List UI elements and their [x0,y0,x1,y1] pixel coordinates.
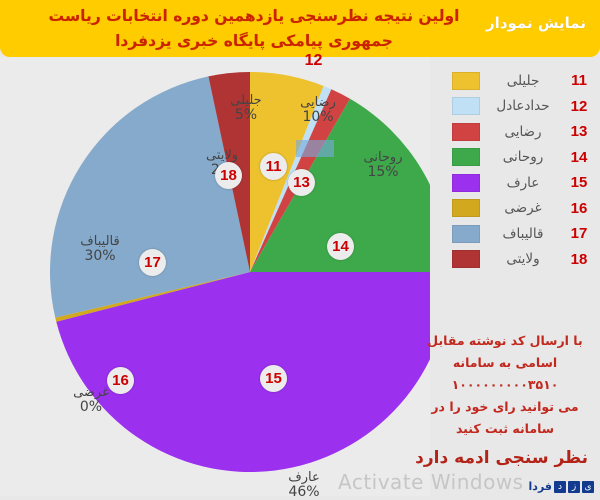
legend-color-swatch [452,148,480,166]
pie-badge-11: 11 [260,153,287,180]
legend-number: 18 [566,251,592,268]
legend-row-16[interactable]: 16غرضی [452,196,592,222]
legend-row-12[interactable]: 12حدادعادل [452,94,592,120]
legend-label: جلیلی [480,73,566,89]
pie-badge-18: 18 [215,162,242,189]
legend-label: روحانی [480,149,566,165]
legend-color-swatch [452,225,480,243]
legend-row-11[interactable]: 11جلیلی [452,68,592,94]
legend-row-13[interactable]: 13رضایی [452,119,592,145]
promo-line-4: می توانید رای خود را در [420,396,590,418]
logo-letter-2: ز [568,481,580,493]
pie-badge-12: 12 [300,47,327,74]
header-title: نمایش نمودار [486,14,586,32]
promo-tagline: نظر سنجی ادمه دارد [418,448,588,468]
headline-line-1: اولین نتیجه نظرسنجی یازدهمین دوره انتخاب… [30,4,478,29]
pie-badge-13: 13 [288,169,315,196]
legend-row-17[interactable]: 17قالیباف [452,221,592,247]
legend-number: 14 [566,149,592,166]
logo-letter-1: د [554,481,566,493]
page-header: نمایش نمودار اولین نتیجه نظرسنجی یازدهمی… [0,0,600,57]
pie-badge-15: 15 [260,365,287,392]
promo-shortcode: ۱۰۰۰۰۰۰۰۰۰۳۵۱۰ [420,374,590,396]
legend-number: 16 [566,200,592,217]
pie-chart: جلیلی5%حدادعادلرضایی10%روحانی15%عارف46%غ… [0,57,430,496]
pie-slices [50,72,430,472]
pie-badge-14: 14 [327,233,354,260]
chart-legend: 11جلیلی12حدادعادل13رضایی14روحانی15عارف16… [452,68,592,272]
logo-letter-3: ی [582,481,594,493]
legend-number: 17 [566,225,592,242]
promo-text: با ارسال کد نوشته مقابل اسامی به سامانه … [420,330,590,440]
pie-badge-16: 16 [107,367,134,394]
headline: اولین نتیجه نظرسنجی یازدهمین دوره انتخاب… [30,4,478,54]
legend-number: 12 [566,98,592,115]
legend-number: 13 [566,123,592,140]
legend-number: 15 [566,174,592,191]
legend-label: رضایی [480,124,566,140]
legend-color-swatch [452,199,480,217]
pie-badge-17: 17 [139,249,166,276]
legend-color-swatch [452,72,480,90]
promo-line-1: با ارسال کد نوشته مقابل [420,330,590,352]
promo-line-5: سامانه ثبت کنید [420,418,590,440]
legend-label: غرضی [480,200,566,216]
pie-chart-svg [0,57,430,496]
legend-label: قالیباف [480,226,566,242]
legend-color-swatch [452,97,480,115]
legend-label: حدادعادل [480,98,566,114]
chart-plot-area: جلیلی5%حدادعادلرضایی10%روحانی15%عارف46%غ… [0,57,430,496]
logo-word: فردا [529,480,552,493]
legend-color-swatch [452,250,480,268]
legend-color-swatch [452,123,480,141]
promo-line-2: اسامی به سامانه [420,352,590,374]
legend-number: 11 [566,72,592,89]
legend-color-swatch [452,174,480,192]
legend-row-14[interactable]: 14روحانی [452,145,592,171]
activate-windows-watermark: Activate Windows [338,470,524,494]
site-logo[interactable]: ی ز د فردا [529,479,594,494]
legend-label: عارف [480,175,566,191]
headline-line-2: جمهوری پیامکی پایگاه خبری یزدفردا [30,29,478,54]
legend-row-18[interactable]: 18ولایتی [452,247,592,273]
selection-artifact [296,140,334,157]
legend-label: ولایتی [480,251,566,267]
legend-row-15[interactable]: 15عارف [452,170,592,196]
